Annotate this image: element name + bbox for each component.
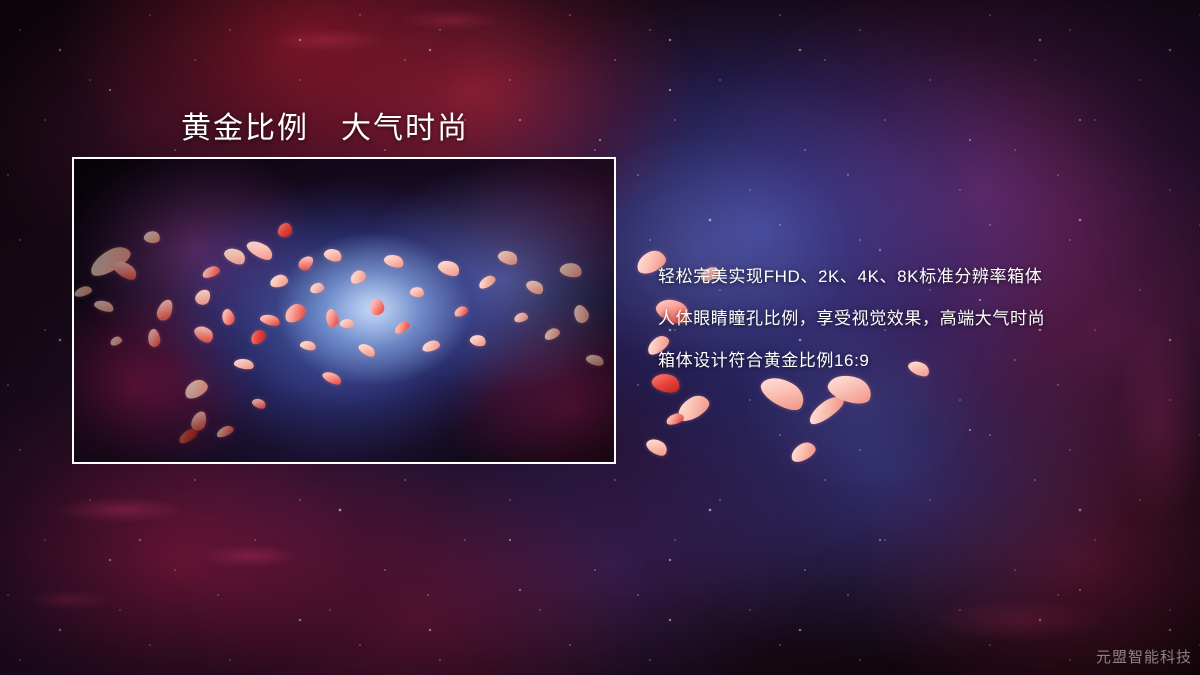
framed-photo — [72, 157, 616, 464]
body-line: 轻松完美实现FHD、2K、4K、8K标准分辨率箱体 — [658, 256, 1178, 298]
photo-vignette — [74, 159, 614, 462]
page-title: 黄金比例 大气时尚 — [181, 103, 469, 147]
watermark: 元盟智能科技 — [1096, 646, 1192, 667]
presentation-slide: 黄金比例 大气时尚 轻松完美实现FHD、2K、4K、8K标准分辨率箱体 人体眼睛… — [0, 0, 1200, 675]
petal-shape — [644, 435, 670, 459]
petal-shape — [788, 439, 818, 465]
body-line: 箱体设计符合黄金比例16:9 — [658, 340, 1178, 382]
body-line: 人体眼睛瞳孔比例，享受视觉效果，高端大气时尚 — [658, 298, 1178, 340]
body-text-block: 轻松完美实现FHD、2K、4K、8K标准分辨率箱体 人体眼睛瞳孔比例，享受视觉效… — [658, 256, 1178, 382]
petal-shape — [665, 412, 685, 427]
